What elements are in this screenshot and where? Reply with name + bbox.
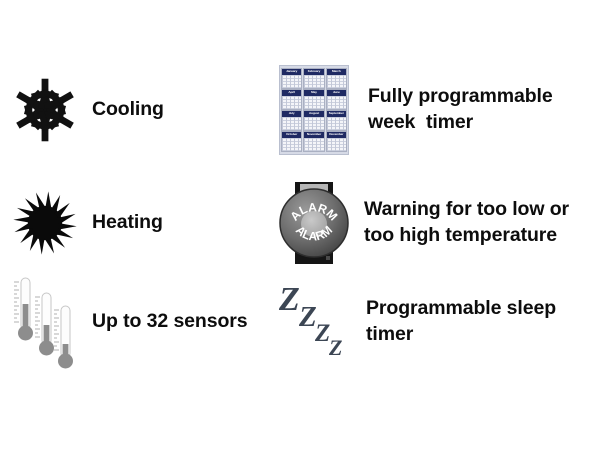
feature-item-cooling: Cooling [0,62,270,158]
thermometer [35,293,54,356]
calendar-month: August [303,110,324,131]
feature-label-sleep-timer: Programmable sleep timer [366,296,556,347]
calendar-row: January February March [281,68,347,89]
calendar-month: November [303,131,324,152]
calendar-icon: January February March [274,63,354,157]
sun-icon [6,184,84,262]
calendar-month: April [281,89,302,110]
feature-item-temperature-warning: ALARM ALARM Warning for too low or too h… [270,178,600,268]
calendar-day-grid [327,138,346,152]
sleep-zzz-icon: Z Z Z Z [274,280,354,364]
feature-row: Cooling January February [0,62,600,158]
calendar-month: May [303,89,324,110]
calendar-month: February [303,68,324,89]
calendar-day-grid [327,75,346,89]
feature-label-temperature-warning: Warning for too low or too high temperat… [364,197,569,248]
calendar-day-grid [304,117,323,131]
calendar-month: January [281,68,302,89]
calendar-month: September [326,110,347,131]
calendar-row: July August September [281,110,347,131]
calendar-row: October November December [281,131,347,152]
thermometer [54,306,73,369]
calendar-month: December [326,131,347,152]
calendar-day-grid [304,75,323,89]
calendar-day-grid [282,117,301,131]
calendar-month: October [281,131,302,152]
thermometers-icon [6,272,84,372]
feature-item-sleep-timer: Z Z Z Z Programmable sleep timer [270,272,600,372]
calendar-day-grid [327,117,346,131]
calendar-month: July [281,110,302,131]
calendar-month: June [326,89,347,110]
calendar-row: April May June [281,89,347,110]
sleep-z-1: Z [278,282,300,318]
feature-item-week-timer: January February March [270,62,600,158]
feature-item-heating: Heating [0,178,270,268]
feature-row: Heating [0,178,600,268]
calendar-grid: January February March [279,65,349,155]
calendar-month: March [326,68,347,89]
calendar-day-grid [282,96,301,110]
calendar-day-grid [327,96,346,110]
feature-label-heating: Heating [92,210,163,236]
thermometer [14,278,33,341]
calendar-day-grid [304,96,323,110]
alarm-clock-icon: ALARM ALARM [274,180,354,266]
feature-label-week-timer: Fully programmable week timer [368,84,553,135]
calendar-day-grid [304,138,323,152]
feature-label-cooling: Cooling [92,97,164,123]
snowflake-icon [6,71,84,149]
feature-item-sensors: Up to 32 sensors [0,272,270,372]
calendar-day-grid [282,75,301,89]
sleep-z-2: Z [298,301,317,333]
feature-grid: Cooling January February [0,0,600,450]
feature-row: Up to 32 sensors Z Z Z Z Programmable sl… [0,272,600,372]
feature-label-sensors: Up to 32 sensors [92,309,248,335]
sleep-z-4: Z [328,335,342,360]
sleep-z-3: Z [314,320,330,347]
calendar-day-grid [282,138,301,152]
